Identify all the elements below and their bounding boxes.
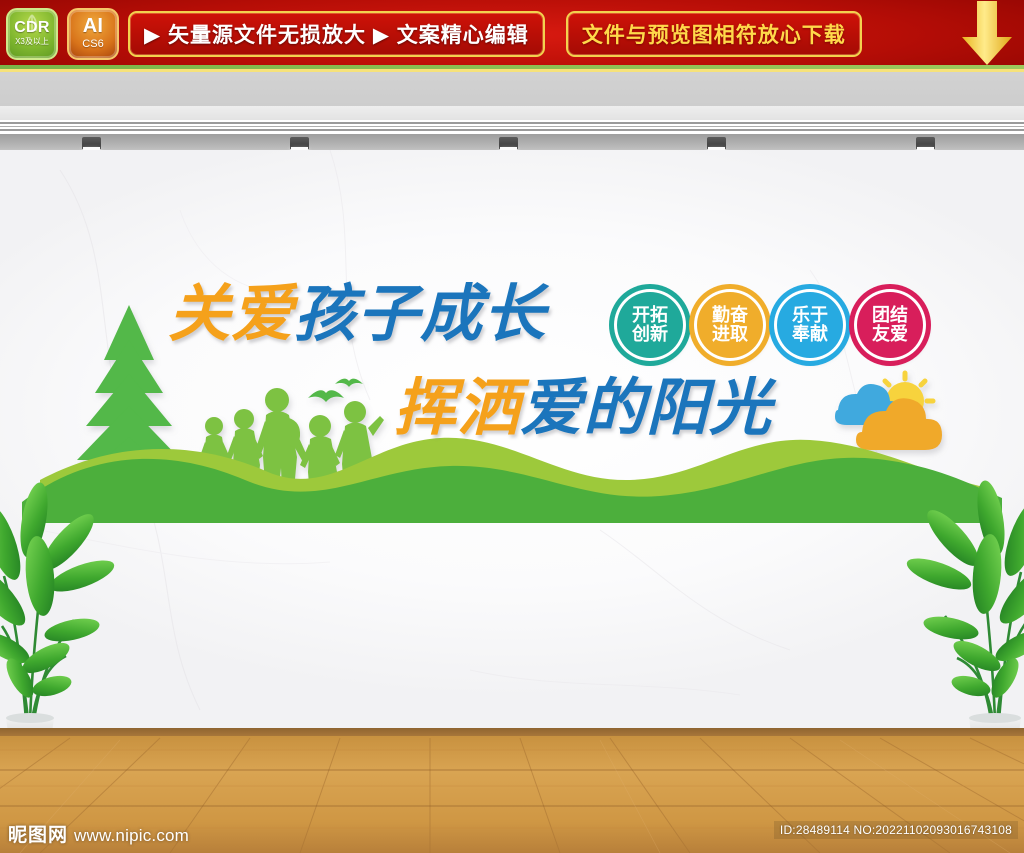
ceiling-spotlight	[916, 137, 935, 149]
value-circle-2-bottom: 进取	[712, 325, 748, 344]
value-circle-1-bottom: 创新	[632, 325, 668, 344]
ai-badge: AI CS6	[67, 8, 119, 60]
potted-plant-left	[0, 480, 117, 755]
value-circle-4-bottom: 友爱	[872, 325, 908, 344]
value-circle-3-bottom: 奉献	[792, 325, 828, 344]
watermark-cn-text: 昵图网	[8, 820, 68, 847]
value-circle-tuanjie-youai: 团结 友爱	[854, 289, 926, 361]
potted-plant-right	[905, 480, 1024, 755]
promo-features-pill: ▶ 矢量源文件无损放大 ▶ 文案精心编辑	[128, 11, 545, 57]
promo-banner: CDR X3及以上 AI CS6 ▶ 矢量源文件无损放大 ▶ 文案精心编辑 文件…	[0, 0, 1024, 72]
site-watermark: 昵图网 www.nipic.com	[8, 820, 189, 847]
headline-line1-orange: 关爱	[168, 277, 294, 350]
ai-badge-title: AI	[83, 16, 104, 36]
value-circle-2-top: 勤奋	[712, 306, 748, 325]
value-circle-1-top: 开拓	[632, 306, 668, 325]
screenshot-root: CDR X3及以上 AI CS6 ▶ 矢量源文件无损放大 ▶ 文案精心编辑 文件…	[0, 0, 1024, 853]
ceiling-spotlight	[82, 137, 101, 149]
birds-icon	[308, 379, 363, 402]
ceiling-spotlight	[707, 137, 726, 149]
value-circle-4-top: 团结	[872, 306, 908, 325]
cdr-badge: CDR X3及以上	[6, 8, 58, 60]
promo-guarantee-pill: 文件与预览图相符放心下载	[566, 11, 862, 57]
cdr-badge-version: X3及以上	[15, 37, 49, 47]
promo-features-text: ▶ 矢量源文件无损放大 ▶ 文案精心编辑	[144, 19, 529, 49]
asset-id-label: ID:28489114 NO:20221102093016743108	[774, 821, 1018, 839]
headline-line-1: 关爱孩子成长	[168, 283, 546, 345]
headline-line2-blue: 爱的阳光	[520, 371, 772, 444]
wood-floor: 昵图网 www.nipic.com ID:28489114 NO:2022110…	[0, 728, 1024, 853]
ai-badge-version: CS6	[82, 37, 103, 51]
ceiling	[0, 72, 1024, 150]
value-circle-qinfen-jinqu: 勤奋 进取	[694, 289, 766, 361]
value-circle-leyu-fengxian: 乐于 奉献	[774, 289, 846, 361]
sun-cloud-icon	[835, 373, 942, 450]
value-circles: 开拓 创新 勤奋 进取 乐于 奉献 团结 友爱	[614, 289, 926, 361]
wall-headline: 关爱孩子成长 挥洒爱的阳光	[168, 283, 546, 345]
headline-line-2: 挥洒爱的阳光	[394, 377, 772, 439]
headline-line2-orange: 挥洒	[394, 371, 520, 444]
headline-line1-blue: 孩子成长	[294, 277, 546, 350]
arrow-down-icon	[960, 1, 1014, 67]
value-circle-3-top: 乐于	[792, 306, 828, 325]
promo-guarantee-text: 文件与预览图相符放心下载	[582, 19, 846, 49]
watermark-url-text: www.nipic.com	[74, 826, 189, 846]
corel-swirl-icon	[21, 14, 43, 32]
value-circle-kaituo-chuangxin: 开拓 创新	[614, 289, 686, 361]
ceiling-spotlight	[499, 137, 518, 149]
ceiling-spotlight	[290, 137, 309, 149]
